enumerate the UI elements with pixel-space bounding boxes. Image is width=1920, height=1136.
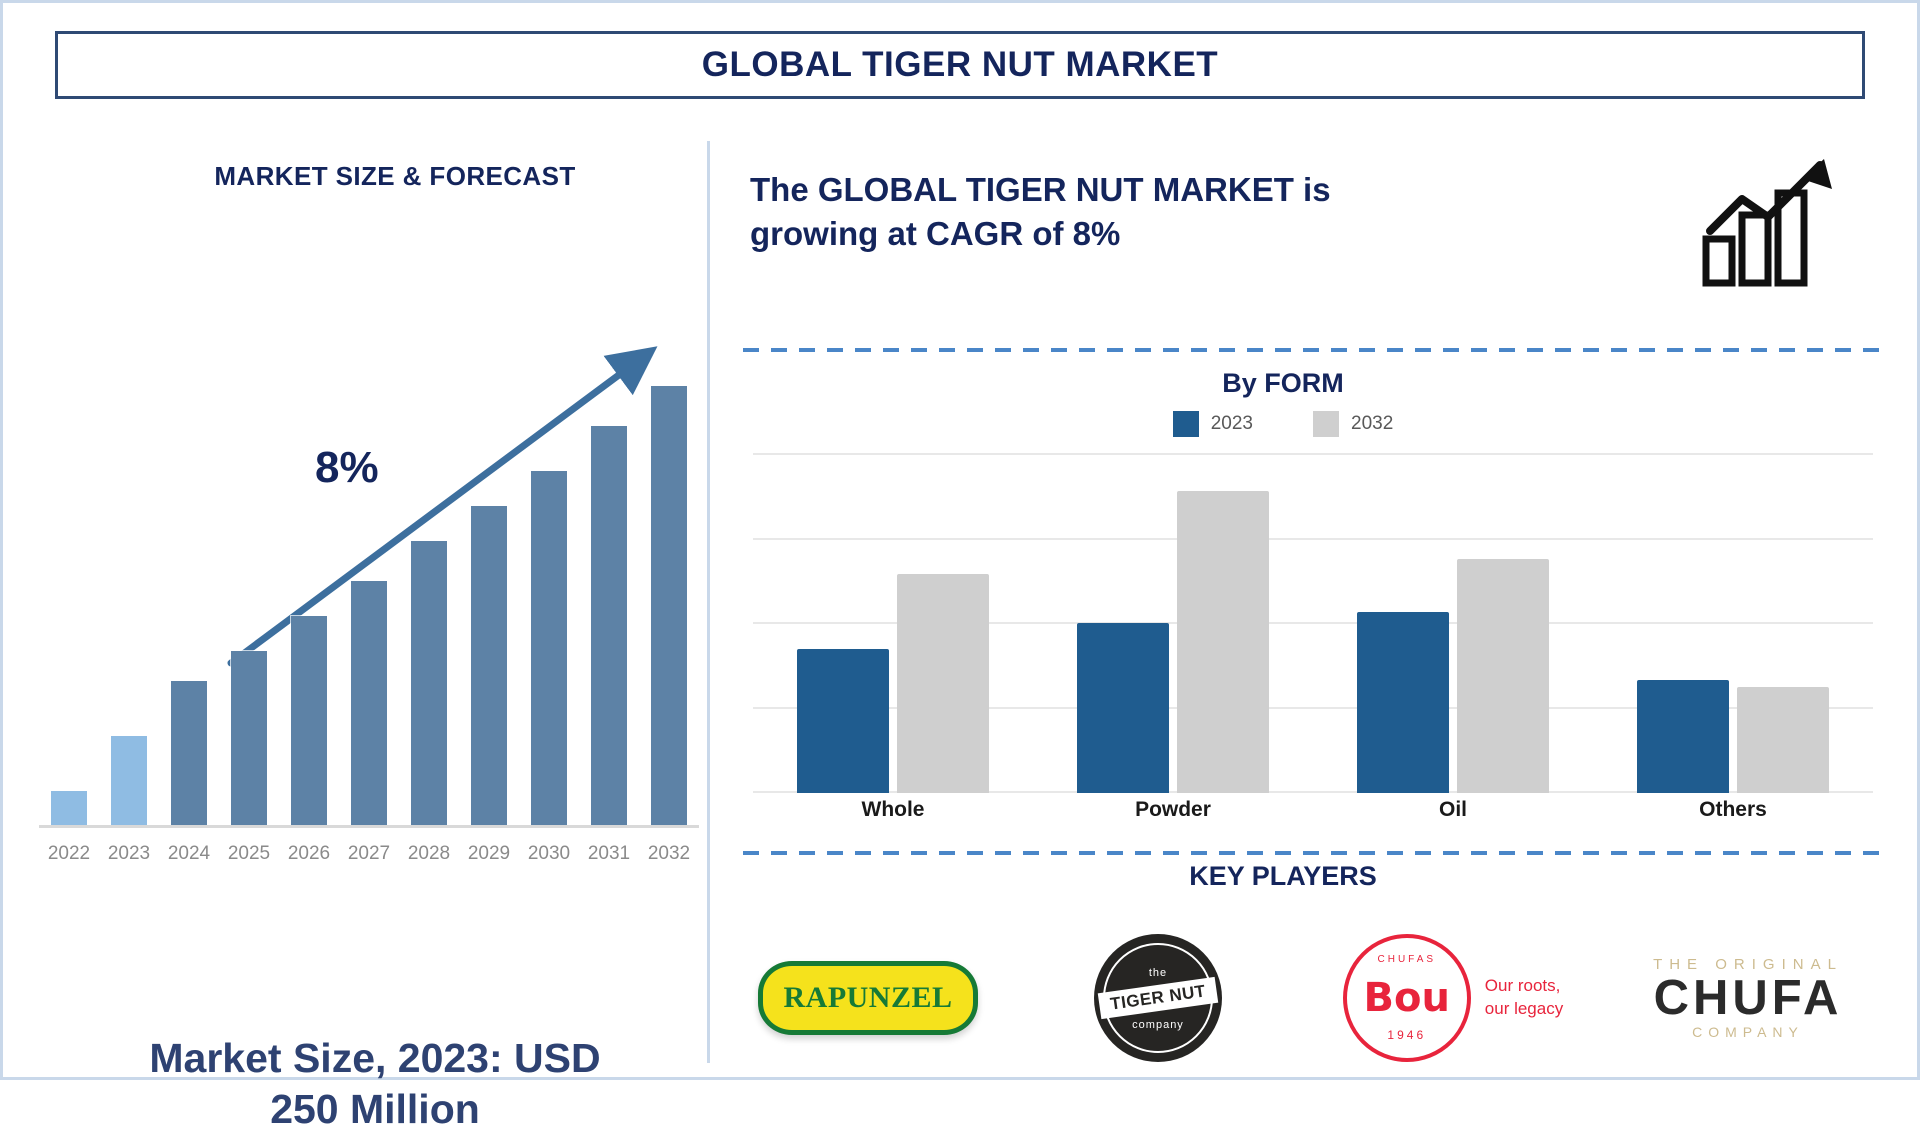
rapunzel-badge: RAPUNZEL bbox=[758, 961, 978, 1035]
legend-label-2023: 2023 bbox=[1211, 413, 1253, 435]
year-label-2027: 2027 bbox=[339, 843, 399, 865]
forecast-bar-rect-2027 bbox=[351, 581, 387, 826]
gridline bbox=[753, 453, 1873, 455]
cagr-headline-line1: The GLOBAL TIGER NUT MARKET is bbox=[750, 168, 1570, 212]
tigernut-badge: the TIGER NUT company bbox=[1094, 934, 1222, 1062]
forecast-bar-rect-2022 bbox=[51, 791, 87, 826]
logo-chufas-bou: CHUFAS Bou 1946 Our roots, our legacy bbox=[1293, 918, 1613, 1078]
byform-chart bbox=[753, 453, 1873, 793]
bou-logo: CHUFAS Bou 1946 Our roots, our legacy bbox=[1343, 934, 1563, 1062]
forecast-bar-rect-2024 bbox=[171, 681, 207, 826]
tigernut-company: company bbox=[1132, 1019, 1184, 1031]
market-size-chart: 8% 2022202320242025202620272028202920302… bbox=[25, 243, 705, 853]
byform-bar-others-2032 bbox=[1737, 687, 1829, 793]
divider-bottom bbox=[743, 851, 1891, 855]
byform-legend: 2023 2032 bbox=[733, 411, 1833, 437]
byform-category-label-oil: Oil bbox=[1353, 798, 1553, 822]
market-size-bars bbox=[39, 286, 699, 826]
bou-chufas-text: CHUFAS bbox=[1378, 954, 1437, 965]
cagr-headline-line2: growing at CAGR of 8% bbox=[750, 212, 1570, 256]
byform-bar-others-2023 bbox=[1637, 680, 1729, 793]
year-label-2031: 2031 bbox=[579, 843, 639, 865]
bou-circle: CHUFAS Bou 1946 bbox=[1343, 934, 1471, 1062]
byform-bar-powder-2032 bbox=[1177, 491, 1269, 793]
byform-category-label-powder: Powder bbox=[1073, 798, 1273, 822]
right-panel: The GLOBAL TIGER NUT MARKET is growing a… bbox=[733, 143, 1893, 1063]
title-box: GLOBAL TIGER NUT MARKET bbox=[55, 31, 1865, 99]
byform-bar-powder-2023 bbox=[1077, 623, 1169, 793]
chufa-company: COMPANY bbox=[1653, 1024, 1843, 1040]
vertical-divider bbox=[707, 141, 710, 1063]
keyplayers-title: KEY PLAYERS bbox=[733, 861, 1833, 892]
chufa-logo: THE ORIGINAL CHUFA COMPANY bbox=[1653, 956, 1843, 1040]
forecast-bar-rect-2026 bbox=[291, 616, 327, 826]
infographic-page: GLOBAL TIGER NUT MARKET MARKET SIZE & FO… bbox=[0, 0, 1920, 1080]
byform-title: By FORM bbox=[733, 368, 1833, 399]
forecast-bar-rect-2028 bbox=[411, 541, 447, 826]
market-size-panel: MARKET SIZE & FORECAST 8% 20222023202420… bbox=[25, 143, 705, 1063]
bou-tagline-line1: Our roots, bbox=[1485, 975, 1563, 998]
forecast-bar-rect-2030 bbox=[531, 471, 567, 826]
key-players-logos: RAPUNZEL the TIGER NUT company CHUFAS Bo… bbox=[733, 918, 1893, 1078]
year-label-2028: 2028 bbox=[399, 843, 459, 865]
logo-original-chufa-company: THE ORIGINAL CHUFA COMPANY bbox=[1598, 918, 1898, 1078]
forecast-bar-rect-2032 bbox=[651, 386, 687, 826]
legend-item-2032: 2032 bbox=[1313, 411, 1393, 437]
legend-label-2032: 2032 bbox=[1351, 413, 1393, 435]
logo-tiger-nut-company: the TIGER NUT company bbox=[1013, 918, 1303, 1078]
byform-category-label-whole: Whole bbox=[793, 798, 993, 822]
legend-swatch-2032 bbox=[1313, 411, 1339, 437]
byform-bar-whole-2032 bbox=[897, 574, 989, 793]
growth-arrow-bars-icon bbox=[1698, 153, 1848, 293]
year-label-2024: 2024 bbox=[159, 843, 219, 865]
rapunzel-text: RAPUNZEL bbox=[783, 981, 952, 1015]
bou-name-text: Bou bbox=[1364, 978, 1450, 1018]
byform-category-labels: WholePowderOilOthers bbox=[753, 798, 1873, 838]
market-size-value-line1: Market Size, 2023: USD bbox=[25, 1033, 725, 1084]
byform-bar-whole-2023 bbox=[797, 649, 889, 793]
tigernut-the: the bbox=[1149, 967, 1167, 979]
gridline bbox=[753, 538, 1873, 540]
year-label-2026: 2026 bbox=[279, 843, 339, 865]
market-size-value: Market Size, 2023: USD 250 Million bbox=[25, 1033, 725, 1136]
forecast-bar-rect-2029 bbox=[471, 506, 507, 826]
logo-rapunzel: RAPUNZEL bbox=[723, 918, 1013, 1078]
cagr-headline: The GLOBAL TIGER NUT MARKET is growing a… bbox=[750, 168, 1570, 255]
market-size-heading: MARKET SIZE & FORECAST bbox=[145, 161, 645, 192]
byform-bar-oil-2032 bbox=[1457, 559, 1549, 793]
year-label-2032: 2032 bbox=[639, 843, 699, 865]
market-size-value-line2: 250 Million bbox=[25, 1084, 725, 1135]
divider-top bbox=[743, 348, 1891, 352]
year-label-2025: 2025 bbox=[219, 843, 279, 865]
forecast-bar-rect-2031 bbox=[591, 426, 627, 826]
page-title: GLOBAL TIGER NUT MARKET bbox=[702, 45, 1218, 85]
bou-tagline: Our roots, our legacy bbox=[1485, 975, 1563, 1021]
bou-year-text: 1946 bbox=[1387, 1028, 1426, 1042]
x-axis-line bbox=[39, 825, 699, 828]
forecast-bar-rect-2023 bbox=[111, 736, 147, 826]
year-label-2030: 2030 bbox=[519, 843, 579, 865]
bou-tagline-line2: our legacy bbox=[1485, 998, 1563, 1021]
year-label-2029: 2029 bbox=[459, 843, 519, 865]
byform-bar-oil-2023 bbox=[1357, 612, 1449, 793]
byform-category-label-others: Others bbox=[1633, 798, 1833, 822]
chufa-name: CHUFA bbox=[1653, 973, 1843, 1024]
year-label-2022: 2022 bbox=[39, 843, 99, 865]
legend-item-2023: 2023 bbox=[1173, 411, 1253, 437]
year-label-2023: 2023 bbox=[99, 843, 159, 865]
year-axis-labels: 2022202320242025202620272028202920302031… bbox=[39, 835, 699, 865]
legend-swatch-2023 bbox=[1173, 411, 1199, 437]
forecast-bar-rect-2025 bbox=[231, 651, 267, 826]
